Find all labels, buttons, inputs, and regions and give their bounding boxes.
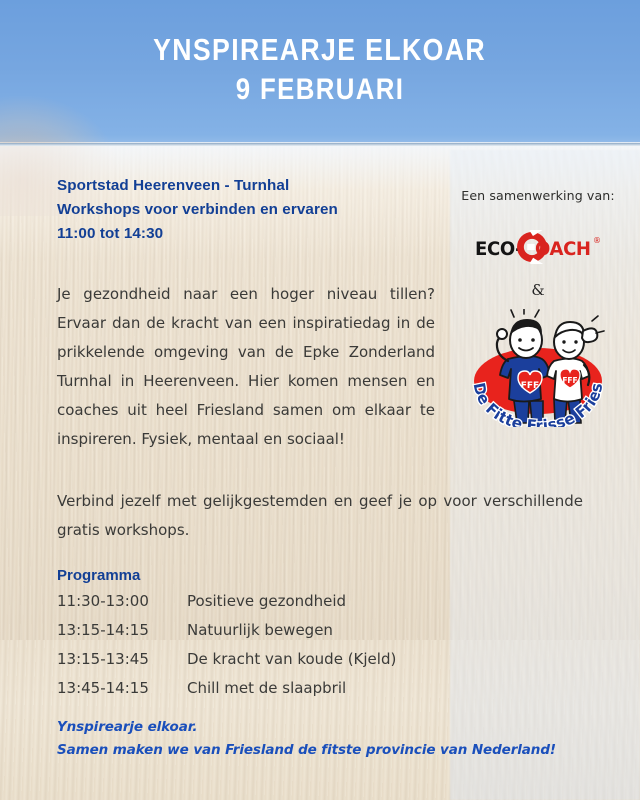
footer-line-2: Samen maken we van Friesland de fitste p…	[57, 739, 556, 762]
programma-time: 13:15-14:15	[57, 621, 187, 639]
programma-heading: Programma	[57, 567, 140, 584]
workshops-line: Workshops voor verbinden en ervaren	[57, 198, 457, 222]
time-line: 11:00 tot 14:30	[57, 222, 457, 246]
footer-line-1: Ynspirearje elkoar.	[57, 716, 556, 739]
signup-paragraph: Verbind jezelf met gelijkgestemden en ge…	[57, 487, 583, 545]
programma-workshop: Natuurlijk bewegen	[187, 621, 477, 639]
programma-row: 13:15-13:45 De kracht van koude (Kjeld)	[57, 650, 477, 679]
programma-workshop: De kracht van koude (Kjeld)	[187, 650, 477, 668]
svg-text:FFF: FFF	[562, 376, 577, 385]
event-details-block: Sportstad Heerenveen - Turnhal Workshops…	[57, 174, 457, 246]
partners-column: Een samenwerking van: ECO- OACH ® &	[440, 188, 636, 427]
partners-label: Een samenwerking van:	[440, 188, 636, 203]
programma-row: 13:45-14:15 Chill met de slaapbril	[57, 679, 477, 708]
footer-slogan: Ynspirearje elkoar. Samen maken we van F…	[57, 716, 556, 762]
dfff-logo-artwork: FFF	[456, 309, 620, 427]
programma-row: 13:15-14:15 Natuurlijk bewegen	[57, 621, 477, 650]
eco-coach-logo: ECO- OACH ®	[475, 230, 601, 264]
programma-workshop: Chill met de slaapbril	[187, 679, 477, 697]
programma-row: 11:30-13:00 Positieve gezondheid	[57, 592, 477, 621]
intro-paragraph: Je gezondheid naar een hoger niveau till…	[57, 280, 435, 454]
registered-trademark-icon: ®	[593, 236, 601, 245]
eco-coach-wordmark-red: OACH	[535, 238, 591, 260]
svg-text:FFF: FFF	[521, 381, 539, 391]
programma-workshop: Positieve gezondheid	[187, 592, 477, 610]
ampersand-separator: &	[440, 281, 636, 299]
de-fitte-frisse-fries-logo: FFF	[456, 309, 620, 427]
poster-flyer: YNSPIREARJE ELKOAR 9 FEBRUARI Sportstad …	[0, 0, 640, 800]
venue-line: Sportstad Heerenveen - Turnhal	[57, 174, 457, 198]
programma-time: 13:15-13:45	[57, 650, 187, 668]
programma-list: 11:30-13:00 Positieve gezondheid 13:15-1…	[57, 592, 477, 708]
programma-time: 11:30-13:00	[57, 592, 187, 610]
programma-time: 13:45-14:15	[57, 679, 187, 697]
